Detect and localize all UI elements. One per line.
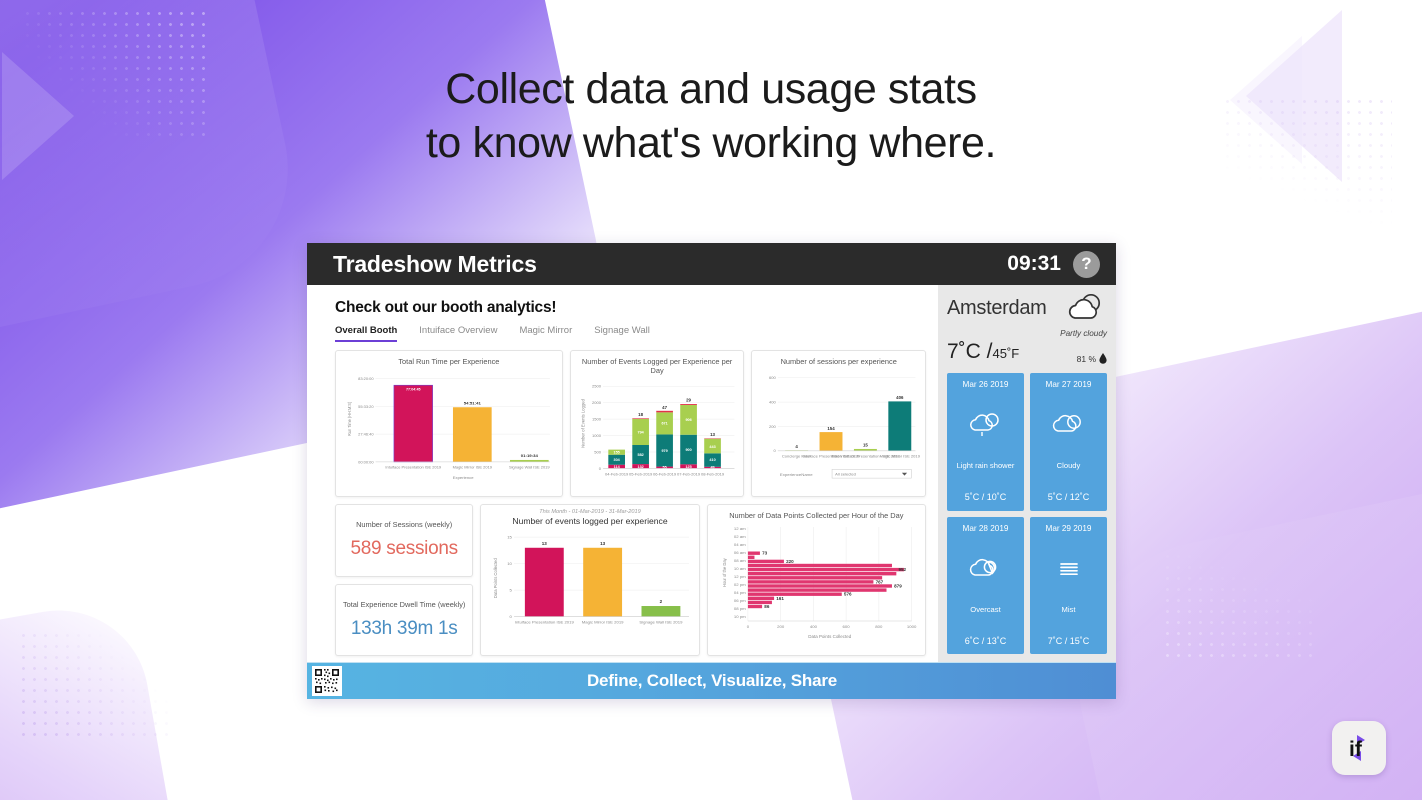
forecast-card-0[interactable]: Mar 26 2019 Light rain shower 5˚C / 10˚C	[947, 373, 1024, 511]
kpi-card-sessions[interactable]: Number of Sessions (weekly) 589 sessions	[335, 504, 473, 577]
ytick-0: 0	[599, 466, 602, 471]
bar-label-magic-mirror: 13	[600, 541, 606, 546]
bar-label-concierge: 4	[796, 444, 799, 449]
forecast-date-3: Mar 29 2019	[1046, 524, 1092, 533]
bar-label-879: 879	[894, 584, 902, 589]
forecast-card-2[interactable]: Mar 28 2019 Overcast 6˚C / 13˚C	[947, 517, 1024, 655]
weather-condition: Partly cloudy	[947, 329, 1107, 338]
data-points-svg: 12 am 02 am 04 am 06 am 08 am 10 am 12 p…	[713, 521, 920, 641]
ytick-1: 27:46:40	[358, 433, 373, 437]
ytick-2000: 2000	[592, 400, 602, 405]
tab-magic-mirror[interactable]: Magic Mirror	[519, 325, 572, 342]
ytick-1000: 1000	[592, 433, 602, 438]
seg-label-5d: 13	[710, 432, 715, 437]
mist-icon	[1049, 555, 1089, 583]
forecast-card-3[interactable]: Mar 29 2019 Mist 7˚C / 15˚C	[1030, 517, 1107, 655]
bar-label-767: 767	[875, 580, 883, 585]
seg-label-1b: 304	[613, 458, 620, 462]
seg-label-3b: 979	[661, 449, 667, 453]
forecast-condition-3: Mist	[1060, 605, 1078, 614]
xtick-2: 400	[809, 624, 817, 629]
ytick-1500: 1500	[592, 417, 602, 422]
page-title: Check out our booth analytics!	[335, 299, 926, 317]
ytick-3: 83:20:00	[358, 377, 373, 381]
x-axis-label: Experience	[453, 475, 475, 480]
xtick-1: 200	[777, 624, 785, 629]
bar-label-220: 220	[786, 559, 794, 564]
y-axis-label: Number of Events Logged	[580, 398, 585, 447]
xtick-0: Intuiface Presentation ISE 2019	[385, 466, 441, 470]
events-per-experience-svg: 15 10 5 0 Data Points Collected 13 13	[486, 527, 693, 639]
dot-pattern-bottom-left	[18, 630, 168, 740]
xtick-2: Signage Wall ISE 2019	[509, 466, 550, 470]
ytick-6: 12 pm	[734, 574, 746, 579]
bar-label-signage-wall: 01:19:34	[521, 453, 539, 458]
ytick-11: 10 pm	[734, 614, 746, 619]
bar-magic-mirror[interactable]	[584, 548, 623, 617]
xtick-2: Signage Wall ISE 2019	[640, 620, 684, 625]
bar-intuiface[interactable]	[394, 385, 433, 462]
chart-title-sessions: Number of sessions per experience	[757, 357, 920, 366]
seg-label-3d: 47	[662, 405, 667, 410]
kpi-card-dwell-time[interactable]: Total Experience Dwell Time (weekly) 133…	[335, 584, 473, 657]
tab-bar: Overall Booth Intuiface Overview Magic M…	[335, 325, 926, 342]
chart-title-data-points: Number of Data Points Collected per Hour…	[713, 511, 920, 520]
kpi-column: Number of Sessions (weekly) 589 sessions…	[335, 504, 473, 656]
seg-label-5a: 49	[710, 466, 714, 470]
help-icon[interactable]: ?	[1073, 251, 1100, 278]
ytick-2: 55:33:20	[358, 405, 373, 409]
kpi-title-dwell-time: Total Experience Dwell Time (weekly)	[343, 600, 465, 609]
seg-label-3c: 671	[661, 421, 667, 425]
xtick-1: Magic Mirror ISE 2019	[453, 466, 492, 470]
bar-intuiface[interactable]	[525, 548, 564, 617]
seg-label-1c: 155	[613, 451, 619, 455]
xtick-3: Magic Mirror ISE 2019	[880, 454, 920, 459]
widget-row-top: Total Run Time per Experience 83:20:00	[335, 350, 926, 497]
forecast-temps-2: 6˚C / 13˚C	[965, 636, 1007, 646]
ytick-0: 0	[774, 448, 777, 453]
cloudy-icon	[1049, 411, 1089, 439]
chart-data-points-per-hour: 12 am 02 am 04 am 06 am 08 am 10 am 12 p…	[713, 521, 920, 641]
ytick-2500: 2500	[592, 384, 602, 389]
stack-06-feb[interactable]: 55 979 671 47	[656, 405, 673, 470]
forecast-date-2: Mar 28 2019	[963, 524, 1009, 533]
tab-overall-booth[interactable]: Overall Booth	[335, 325, 397, 342]
y-axis-label: Data Points Collected	[493, 558, 498, 599]
bar-label-magic-mirror: 54:51:41	[464, 400, 482, 405]
bar-label-intuiface: 13	[542, 541, 548, 546]
sessions-svg: 600 400 200 0 4 154 15	[757, 367, 920, 482]
weather-temp-f: 45˚F	[993, 346, 1020, 361]
events-per-day-svg: 2500 2000 1500 1000 500 0 Number of Even…	[576, 376, 739, 491]
chart-events-per-day: 2500 2000 1500 1000 500 0 Number of Even…	[576, 376, 739, 491]
chart-events-per-experience: 15 10 5 0 Data Points Collected 13 13	[486, 527, 693, 639]
kpi-value-sessions: 589 sessions	[351, 538, 458, 560]
seg-label-4c: 906	[685, 418, 691, 422]
dashboard-content: Check out our booth analytics! Overall B…	[307, 285, 938, 662]
seg-label-5c: 443	[709, 445, 715, 449]
xtick-3: 07-Feb-2019	[677, 472, 701, 477]
xtick-2: 06-Feb-2019	[653, 472, 677, 477]
bar-label-161: 161	[776, 596, 784, 601]
ytick-8: 04 pm	[734, 590, 746, 595]
forecast-condition-0: Light rain shower	[955, 461, 1017, 470]
y-axis-label: Hour of the Day	[722, 558, 727, 587]
ytick-0: 12 am	[734, 526, 746, 531]
y-axis-label: Run Time (HH:M:S)	[347, 401, 352, 436]
weather-city-row: Amsterdam	[947, 293, 1107, 323]
ytick-10: 08 pm	[734, 606, 746, 611]
widget-grid: Total Run Time per Experience 83:20:00	[335, 350, 926, 662]
tab-intuiface-overview[interactable]: Intuiface Overview	[419, 325, 497, 342]
headline-line-1: Collect data and usage stats	[445, 65, 976, 113]
bar-label-73: 73	[762, 551, 768, 556]
kpi-title-sessions: Number of Sessions (weekly)	[356, 520, 452, 529]
bar-label-signage-wall: 2	[660, 599, 663, 604]
ytick-1: 02 am	[734, 534, 746, 539]
partly-cloudy-icon	[1065, 293, 1107, 323]
weather-panel: Amsterdam Partly cloudy 7˚C /45˚F 81 %	[938, 285, 1116, 662]
seg-label-3a: 55	[662, 466, 666, 470]
chart-card-data-points-per-hour[interactable]: Number of Data Points Collected per Hour…	[707, 504, 926, 656]
slide-headline: Collect data and usage stats to know wha…	[0, 62, 1422, 170]
forecast-temps-0: 5˚C / 10˚C	[965, 492, 1007, 502]
dashboard-body: Check out our booth analytics! Overall B…	[307, 285, 1116, 662]
seg-label-2b: 582	[637, 453, 643, 457]
stack-07-feb[interactable]: 125 900 906 29	[680, 398, 697, 469]
bar-magic-mirror[interactable]	[889, 401, 912, 450]
if-logo-text: if	[1349, 738, 1363, 761]
ytick-200: 200	[769, 424, 777, 429]
bar-label-ipad: 15	[863, 443, 869, 448]
xtick-0: Intuiface Presentation ISE 2019	[515, 620, 575, 625]
intuiface-logo: if	[1332, 721, 1386, 775]
forecast-temps-1: 5˚C / 12˚C	[1048, 492, 1090, 502]
dashboard-title: Tradeshow Metrics	[333, 251, 1007, 278]
if-logo-icon: if	[1340, 729, 1378, 767]
ytick-5: 5	[510, 588, 513, 593]
rain-shower-icon	[966, 411, 1006, 439]
overcast-icon	[966, 555, 1006, 583]
qr-code-icon[interactable]	[312, 666, 342, 696]
xtick-0: 04-Feb-2019	[605, 472, 629, 477]
ytick-500: 500	[594, 449, 602, 454]
run-time-svg: 83:20:00 55:33:20 27:46:40 00:00:00 Run …	[341, 367, 557, 482]
bar-label-576: 576	[844, 592, 852, 597]
weather-temp-c: 7˚C	[947, 340, 981, 363]
filter-label: ExperienceName	[780, 472, 813, 477]
kpi-value-dwell-time: 133h 39m 1s	[351, 618, 458, 640]
dashboard-device: Tradeshow Metrics 09:31 ? Check out our …	[307, 243, 1116, 699]
seg-label-4d: 29	[686, 398, 691, 403]
seg-label-5b: 410	[709, 458, 715, 462]
xtick-4: 08-Feb-2019	[701, 472, 725, 477]
xtick-1: 05-Feb-2019	[629, 472, 653, 477]
stack-08-feb[interactable]: 49 410 443 13	[704, 432, 721, 470]
bar-signage-wall[interactable]	[642, 606, 681, 617]
seg-label-2d: 18	[638, 412, 643, 417]
ytick-400: 400	[769, 400, 777, 405]
forecast-temps-3: 7˚C / 15˚C	[1048, 636, 1090, 646]
chart-card-run-time[interactable]: Total Run Time per Experience 83:20:00	[335, 350, 563, 497]
ytick-2: 04 am	[734, 542, 746, 547]
bar-label-intuiface: 77:04:45	[406, 388, 421, 392]
forecast-condition-2: Overcast	[968, 605, 1002, 614]
chart-card-events-per-day[interactable]: Number of Events Logged per Experience p…	[570, 350, 745, 497]
headline-line-2: to know what's working where.	[0, 116, 1422, 170]
chart-card-events-per-experience[interactable]: This Month - 01-Mar-2019 - 31-Mar-2019 N…	[480, 504, 699, 656]
chart-subtitle-events-per-experience: This Month - 01-Mar-2019 - 31-Mar-2019	[486, 509, 693, 515]
dashboard-titlebar: Tradeshow Metrics 09:31 ?	[307, 243, 1116, 285]
forecast-card-1[interactable]: Mar 27 2019 Cloudy 5˚C / 12˚C	[1030, 373, 1107, 511]
dot-pattern-bottom-right	[1162, 540, 1312, 660]
water-drop-icon	[1099, 353, 1107, 364]
ytick-0: 00:00:00	[358, 461, 373, 465]
ytick-7: 02 pm	[734, 582, 746, 587]
ytick-3: 06 am	[734, 550, 746, 555]
bar-magic-mirror[interactable]	[453, 407, 492, 462]
widget-row-bottom: Number of Sessions (weekly) 589 sessions…	[335, 504, 926, 656]
bar-label-86: 86	[764, 604, 770, 609]
seg-label-4b: 900	[685, 448, 691, 452]
xtick-4: 800	[875, 624, 883, 629]
bar-label-intuiface: 154	[828, 426, 836, 431]
xtick-3: 600	[842, 624, 850, 629]
chart-card-sessions-per-experience[interactable]: Number of sessions per experience 600	[751, 350, 926, 497]
weather-temperature: 7˚C /45˚F	[947, 340, 1019, 364]
footer-tagline: Define, Collect, Visualize, Share	[350, 671, 1116, 691]
x-axis-label: Data Points Collected	[808, 634, 852, 639]
seg-label-2c: 794	[637, 431, 644, 435]
ytick-0: 0	[510, 614, 513, 619]
xtick-5: 1000	[907, 624, 917, 629]
ytick-4: 08 am	[734, 558, 746, 563]
ytick-10: 10	[508, 561, 513, 566]
weather-humidity-value: 81 %	[1077, 354, 1096, 364]
chart-title-events-per-day: Number of Events Logged per Experience p…	[576, 357, 739, 375]
chart-sessions-per-experience: 600 400 200 0 4 154 15	[757, 367, 920, 482]
ytick-9: 06 pm	[734, 598, 746, 603]
weather-humidity: 81 %	[1077, 353, 1107, 364]
xtick-1: Magic Mirror ISE 2019	[582, 620, 624, 625]
ytick-600: 600	[769, 375, 777, 380]
forecast-date-0: Mar 26 2019	[963, 380, 1009, 389]
clock: 09:31	[1007, 252, 1061, 276]
ytick-15: 15	[508, 535, 513, 540]
bar-label-magic-mirror: 406	[897, 395, 905, 400]
tab-signage-wall[interactable]: Signage Wall	[594, 325, 650, 342]
bar-label-952: 952	[898, 567, 906, 572]
chart-title-run-time: Total Run Time per Experience	[341, 357, 557, 366]
ytick-5: 10 am	[734, 566, 746, 571]
stack-04-feb[interactable]: 114 304 155	[608, 450, 625, 469]
chart-run-time: 83:20:00 55:33:20 27:46:40 00:00:00 Run …	[341, 367, 557, 482]
weather-forecast-grid: Mar 26 2019 Light rain shower 5˚C / 10˚C…	[947, 373, 1107, 654]
stack-05-feb[interactable]: 132 582 794 18	[632, 412, 649, 469]
forecast-date-1: Mar 27 2019	[1046, 380, 1092, 389]
filter-value: All selected	[836, 472, 857, 477]
dashboard-footer: Define, Collect, Visualize, Share	[307, 662, 1116, 699]
xtick-0: 0	[746, 624, 749, 629]
qr-code-graphic	[314, 668, 340, 694]
chart-title-events-per-experience: Number of events logged per experience	[486, 517, 693, 526]
forecast-condition-1: Cloudy	[1055, 461, 1083, 470]
weather-current-row: 7˚C /45˚F 81 %	[947, 340, 1107, 364]
bar-intuiface[interactable]	[820, 432, 843, 451]
weather-city: Amsterdam	[947, 297, 1047, 320]
